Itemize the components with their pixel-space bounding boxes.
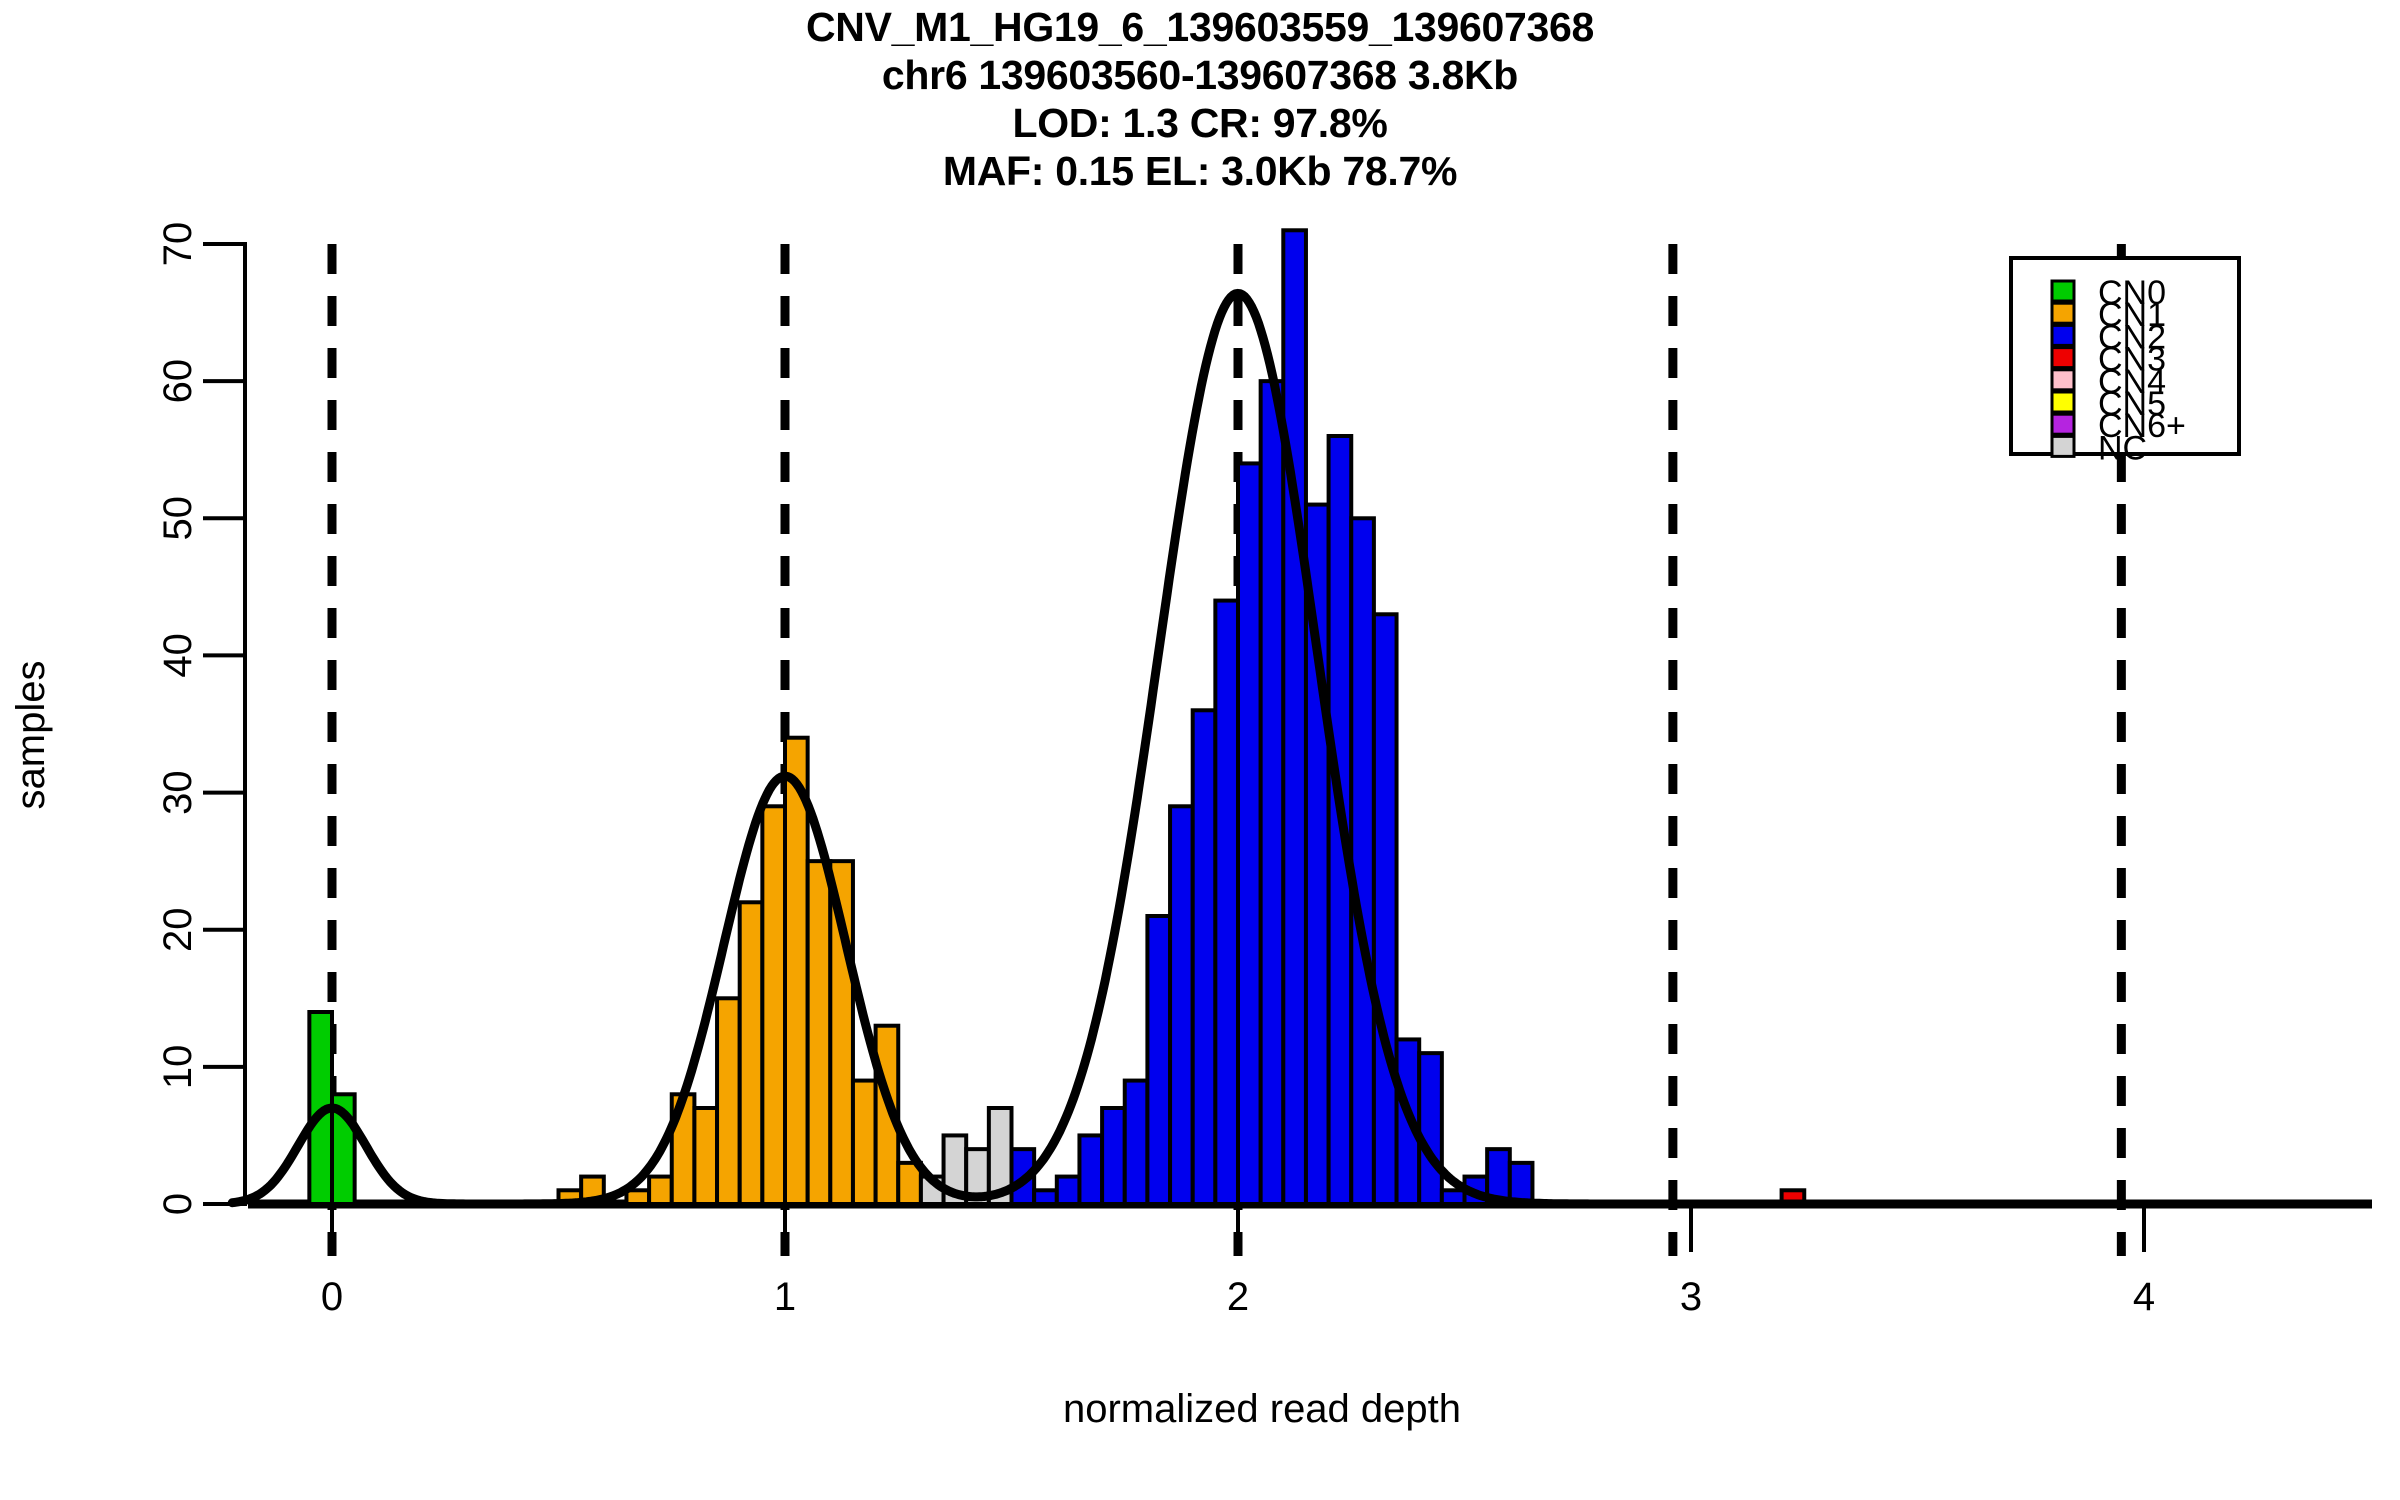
histogram-bar bbox=[1102, 1108, 1125, 1204]
legend-swatch-cn2 bbox=[2052, 325, 2074, 345]
x-tick-label: 2 bbox=[1227, 1275, 1249, 1319]
x-tick-label: 0 bbox=[321, 1275, 343, 1319]
y-tick-label: 0 bbox=[156, 1193, 200, 1215]
histogram-bar bbox=[1351, 518, 1374, 1204]
legend: CN0CN1CN2CN3CN4CN5CN6+NC bbox=[2011, 258, 2239, 467]
histogram-plot: 010203040506070 samples 01234 normalized… bbox=[0, 0, 2400, 1500]
x-axis-title: normalized read depth bbox=[1063, 1387, 1461, 1431]
x-tick-label: 3 bbox=[1680, 1275, 1702, 1319]
histogram-bar bbox=[1261, 381, 1284, 1204]
legend-swatch-cn5 bbox=[2052, 392, 2074, 412]
x-tick-label: 1 bbox=[774, 1275, 796, 1319]
histogram-bars bbox=[309, 230, 1804, 1204]
histogram-bar bbox=[762, 806, 785, 1204]
y-tick-label: 40 bbox=[156, 633, 200, 678]
histogram-bar bbox=[1034, 1190, 1057, 1204]
chart-page: CNV_M1_HG19_6_139603559_139607368 chr6 1… bbox=[0, 0, 2400, 1500]
legend-label-nc: NC bbox=[2098, 429, 2147, 467]
histogram-bar bbox=[740, 902, 763, 1204]
y-tick-label: 30 bbox=[156, 770, 200, 815]
histogram-bar bbox=[1193, 710, 1216, 1204]
histogram-bar bbox=[717, 998, 740, 1204]
histogram-bar bbox=[1419, 1053, 1442, 1204]
y-tick-label: 10 bbox=[156, 1045, 200, 1090]
histogram-bar bbox=[1147, 916, 1170, 1204]
histogram-bar bbox=[649, 1177, 672, 1204]
y-tick-label: 70 bbox=[156, 222, 200, 267]
y-tick-label: 20 bbox=[156, 907, 200, 952]
y-axis: 010203040506070 samples bbox=[9, 222, 247, 1215]
x-axis: 01234 normalized read depth bbox=[248, 1204, 2372, 1431]
legend-swatch-cn4 bbox=[2052, 370, 2074, 390]
histogram-bar bbox=[1374, 614, 1397, 1204]
legend-swatch-cn0 bbox=[2052, 281, 2074, 301]
legend-swatch-cn3 bbox=[2052, 348, 2074, 368]
histogram-bar bbox=[853, 1081, 876, 1204]
histogram-bar bbox=[808, 861, 831, 1204]
y-tick-label: 60 bbox=[156, 359, 200, 404]
histogram-bar bbox=[1215, 601, 1238, 1204]
legend-swatch-cn1 bbox=[2052, 303, 2074, 323]
histogram-bar bbox=[1283, 230, 1306, 1204]
x-tick-label: 4 bbox=[2133, 1275, 2155, 1319]
y-tick-label: 50 bbox=[156, 496, 200, 541]
histogram-bar bbox=[1170, 806, 1193, 1204]
legend-swatch-cn6plus bbox=[2052, 414, 2074, 434]
y-axis-title: samples bbox=[9, 661, 53, 810]
legend-swatch-nc bbox=[2052, 436, 2074, 456]
histogram-bar bbox=[1442, 1190, 1465, 1204]
histogram-bar bbox=[1079, 1135, 1102, 1204]
histogram-bar bbox=[694, 1108, 717, 1204]
histogram-bar bbox=[1238, 463, 1261, 1204]
histogram-bar bbox=[1057, 1177, 1080, 1204]
histogram-bar bbox=[1125, 1081, 1148, 1204]
